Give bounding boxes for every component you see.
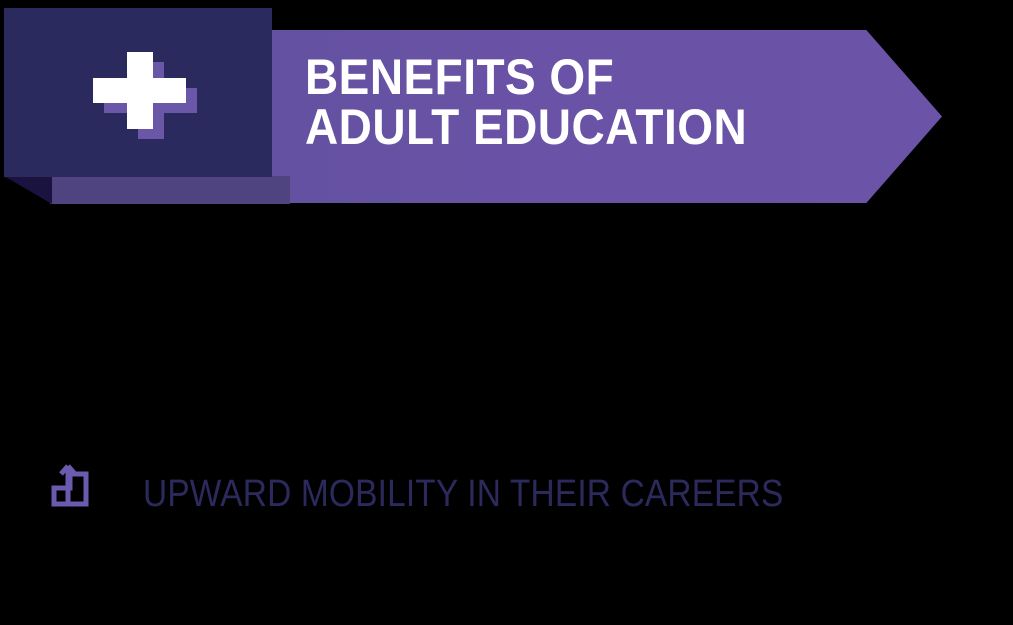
infographic-canvas: BENEFITS OF ADULT EDUCATION UPWARD MOBIL…: [0, 0, 1013, 625]
banner-ribbon-tail: [50, 176, 290, 204]
page-title: BENEFITS OF ADULT EDUCATION: [305, 52, 875, 152]
plus-icon: [93, 52, 186, 129]
page-title-line-2: ADULT EDUCATION: [305, 102, 875, 152]
plus-horizontal-bar: [93, 78, 186, 103]
stairs-up-arrow-icon: [44, 452, 114, 522]
banner-ribbon-fold: [4, 176, 52, 204]
page-title-line-1: BENEFITS OF: [305, 52, 875, 102]
benefit-label: UPWARD MOBILITY IN THEIR CAREERS: [143, 474, 783, 514]
header-banner: BENEFITS OF ADULT EDUCATION: [0, 0, 1013, 215]
